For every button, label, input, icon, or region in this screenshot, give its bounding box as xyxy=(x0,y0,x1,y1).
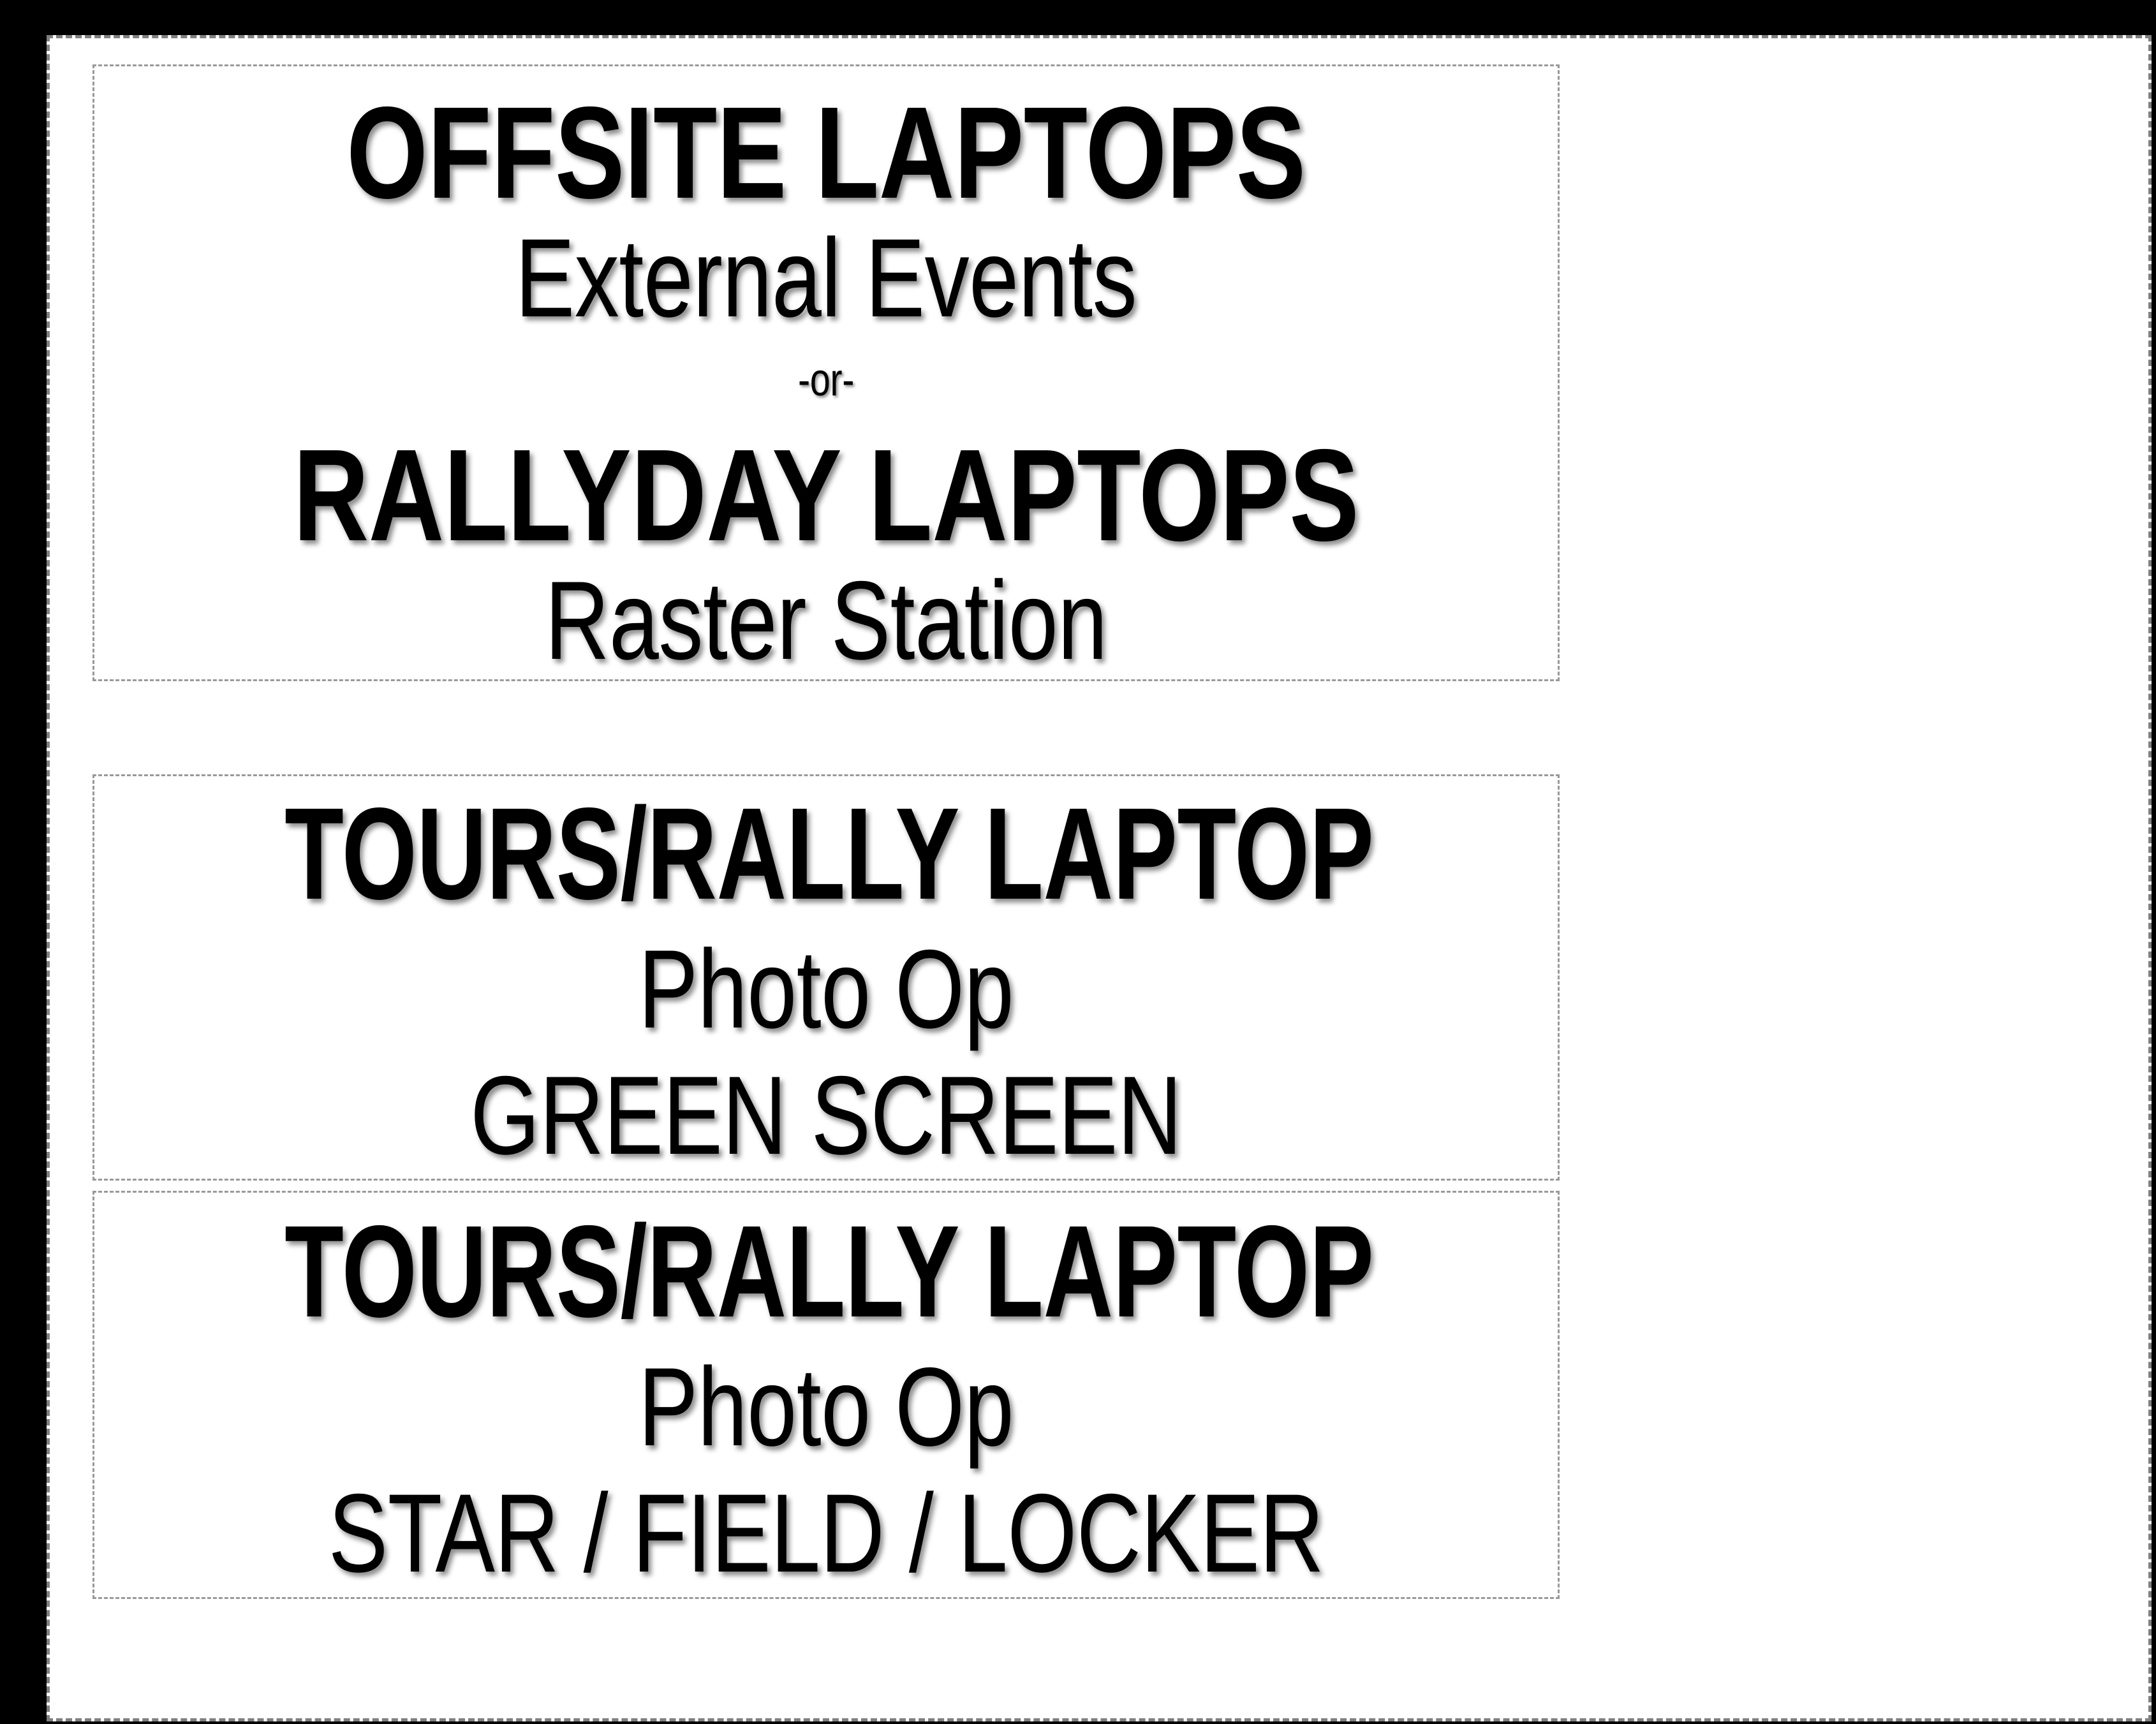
slide-canvas: OFFSITE LAPTOPS External Events -or- RAL… xyxy=(0,0,2156,1724)
external-events-label: External Events xyxy=(94,221,1558,336)
tours-rally-laptop-heading-star-field: TOURS/RALLY LAPTOP xyxy=(94,1204,1558,1339)
green-screen-label: GREEN SCREEN xyxy=(94,1059,1558,1174)
textbox-offsite-rallyday[interactable]: OFFSITE LAPTOPS External Events -or- RAL… xyxy=(92,64,1560,681)
slide-frame-bottom-edge xyxy=(0,1721,2156,1724)
photo-op-label-green-screen: Photo Op xyxy=(94,932,1558,1047)
or-separator-label: -or- xyxy=(94,355,1558,406)
textbox-tours-rally-green-screen[interactable]: TOURS/RALLY LAPTOP Photo Op GREEN SCREEN xyxy=(92,774,1560,1181)
slide-frame-right-edge xyxy=(2153,0,2156,1724)
tours-rally-laptop-heading-green-screen: TOURS/RALLY LAPTOP xyxy=(94,786,1558,921)
rallyday-laptops-heading: RALLYDAY LAPTOPS xyxy=(94,428,1558,563)
offsite-laptops-heading: OFFSITE LAPTOPS xyxy=(94,85,1558,220)
star-field-locker-label: STAR / FIELD / LOCKER xyxy=(94,1477,1558,1591)
slide-frame-left-edge xyxy=(0,0,47,1724)
textbox-tours-rally-star-field-locker[interactable]: TOURS/RALLY LAPTOP Photo Op STAR / FIELD… xyxy=(92,1191,1560,1599)
raster-station-label: Raster Station xyxy=(94,564,1558,679)
slide-frame-top-edge xyxy=(0,0,2156,35)
slide-page-surface[interactable]: OFFSITE LAPTOPS External Events -or- RAL… xyxy=(47,35,2152,1721)
photo-op-label-star-field: Photo Op xyxy=(94,1350,1558,1465)
